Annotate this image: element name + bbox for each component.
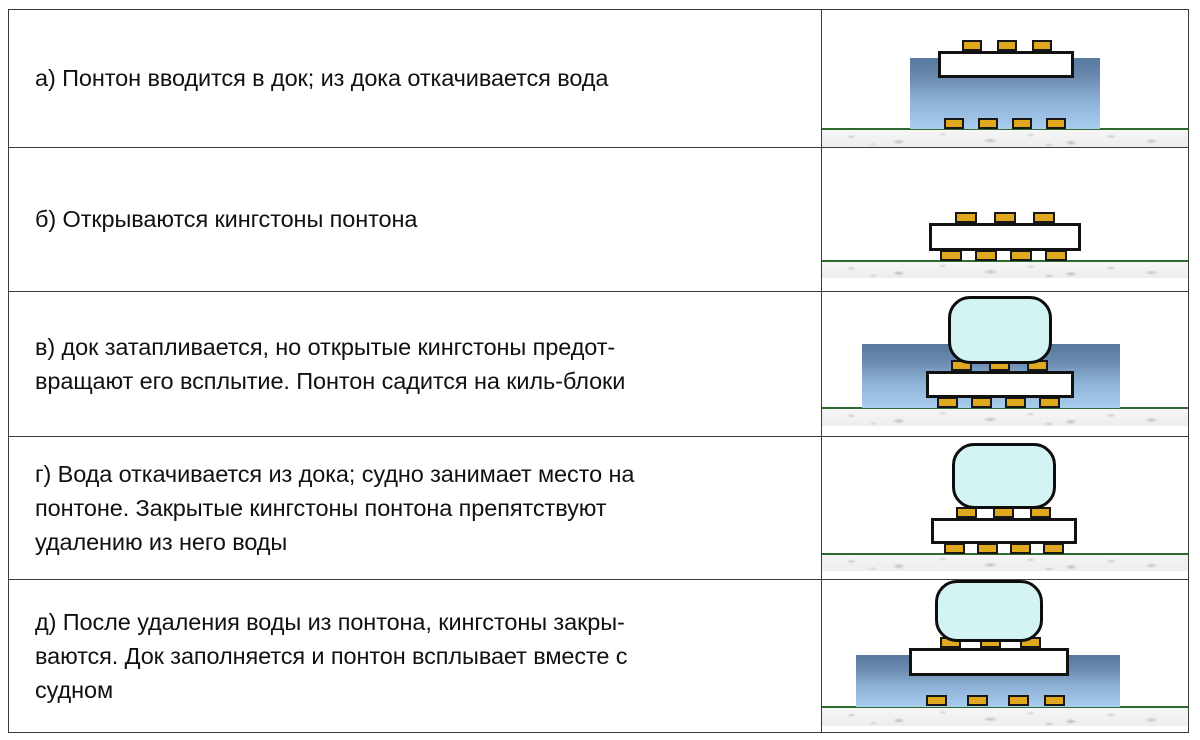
keel-block — [967, 695, 988, 706]
ship-hull-d — [952, 443, 1056, 509]
figure-e — [822, 580, 1188, 732]
keel-block — [1005, 397, 1026, 408]
step-text-cell-d: г) Вода откачивается из дока; судно зани… — [9, 437, 822, 580]
step-description-a: а) Понтон вводится в док; из дока откачи… — [9, 55, 821, 101]
dock-floor-line-b — [822, 260, 1188, 262]
keel-block — [1010, 250, 1032, 261]
table-row: а) Понтон вводится в док; из дока откачи… — [9, 10, 1189, 148]
keel-block — [1012, 118, 1032, 129]
support-block — [1032, 40, 1052, 51]
step-e-line-1: д) После удаления воды из понтона, кингс… — [35, 605, 799, 639]
table-row: в) док затапливается, но открытые кингст… — [9, 292, 1189, 437]
step-description-c: в) док затапливается, но открытые кингст… — [9, 324, 821, 405]
dock-floor-b — [822, 262, 1188, 278]
support-block — [1033, 212, 1055, 223]
step-text-cell-a: а) Понтон вводится в док; из дока откачи… — [9, 10, 822, 148]
pontoon-hull-d — [931, 518, 1077, 544]
keel-block — [971, 397, 992, 408]
table-row: б) Открываются кингстоны понтона — [9, 148, 1189, 292]
keel-block — [978, 118, 998, 129]
keel-block — [1043, 543, 1064, 554]
step-figure-cell-b — [822, 148, 1189, 292]
keel-block — [1010, 543, 1031, 554]
keel-block — [1008, 695, 1029, 706]
keel-block — [926, 695, 947, 706]
step-description-e: д) После удаления воды из понтона, кингс… — [9, 599, 821, 714]
scene-c — [822, 292, 1188, 436]
dock-floor-e — [822, 708, 1188, 726]
scene-d — [822, 437, 1188, 579]
diagram-page: а) Понтон вводится в док; из дока откачи… — [0, 0, 1200, 740]
step-text-cell-b: б) Открываются кингстоны понтона — [9, 148, 822, 292]
figure-d — [822, 437, 1188, 579]
support-block — [955, 212, 977, 223]
pontoon-hull-e — [909, 648, 1069, 676]
step-c-line-2: вращают его всплытие. Понтон садится на … — [35, 364, 799, 398]
keel-block — [937, 397, 958, 408]
step-figure-cell-c — [822, 292, 1189, 437]
step-text-cell-c: в) док затапливается, но открытые кингст… — [9, 292, 822, 437]
step-d-line-1: г) Вода откачивается из дока; судно зани… — [35, 457, 799, 491]
keel-block — [977, 543, 998, 554]
keel-block — [940, 250, 962, 261]
step-description-b: б) Открываются кингстоны понтона — [9, 196, 821, 242]
step-figure-cell-d — [822, 437, 1189, 580]
keel-block — [1046, 118, 1066, 129]
table-row: д) После удаления воды из понтона, кингс… — [9, 580, 1189, 733]
step-e-line-3: судном — [35, 673, 799, 707]
keel-block — [944, 543, 965, 554]
keel-block — [1045, 250, 1067, 261]
dock-floor-line-d — [822, 553, 1188, 555]
pontoon-hull-c — [926, 371, 1074, 398]
step-d-line-2: понтоне. Закрытые кингстоны понтона преп… — [35, 491, 799, 525]
figure-c — [822, 292, 1188, 436]
figure-a — [822, 10, 1188, 147]
step-c-line-1: в) док затапливается, но открытые кингст… — [35, 330, 799, 364]
dock-floor-c — [822, 409, 1188, 426]
step-d-line-3: удалению из него воды — [35, 525, 799, 559]
docking-steps-table: а) Понтон вводится в док; из дока откачи… — [8, 9, 1189, 733]
step-text-cell-e: д) После удаления воды из понтона, кингс… — [9, 580, 822, 733]
step-a-line-1: а) Понтон вводится в док; из дока откачи… — [35, 61, 799, 95]
support-block — [962, 40, 982, 51]
keel-block — [975, 250, 997, 261]
step-e-line-2: ваются. Док заполняется и понтон всплыва… — [35, 639, 799, 673]
ship-hull-c — [948, 296, 1052, 364]
scene-b — [822, 148, 1188, 291]
figure-b — [822, 148, 1188, 291]
table-row: г) Вода откачивается из дока; судно зани… — [9, 437, 1189, 580]
ship-hull-e — [935, 580, 1043, 642]
step-figure-cell-a — [822, 10, 1189, 148]
scene-a — [822, 10, 1188, 147]
step-description-d: г) Вода откачивается из дока; судно зани… — [9, 451, 821, 566]
scene-e — [822, 580, 1188, 732]
keel-block — [1044, 695, 1065, 706]
support-block — [997, 40, 1017, 51]
keel-block — [944, 118, 964, 129]
step-figure-cell-e — [822, 580, 1189, 733]
dock-floor-d — [822, 555, 1188, 571]
pontoon-hull-b — [929, 223, 1081, 251]
step-b-line-1: б) Открываются кингстоны понтона — [35, 202, 799, 236]
keel-block — [1039, 397, 1060, 408]
support-block — [994, 212, 1016, 223]
pontoon-hull-a — [938, 51, 1074, 78]
dock-floor-a — [822, 130, 1188, 147]
